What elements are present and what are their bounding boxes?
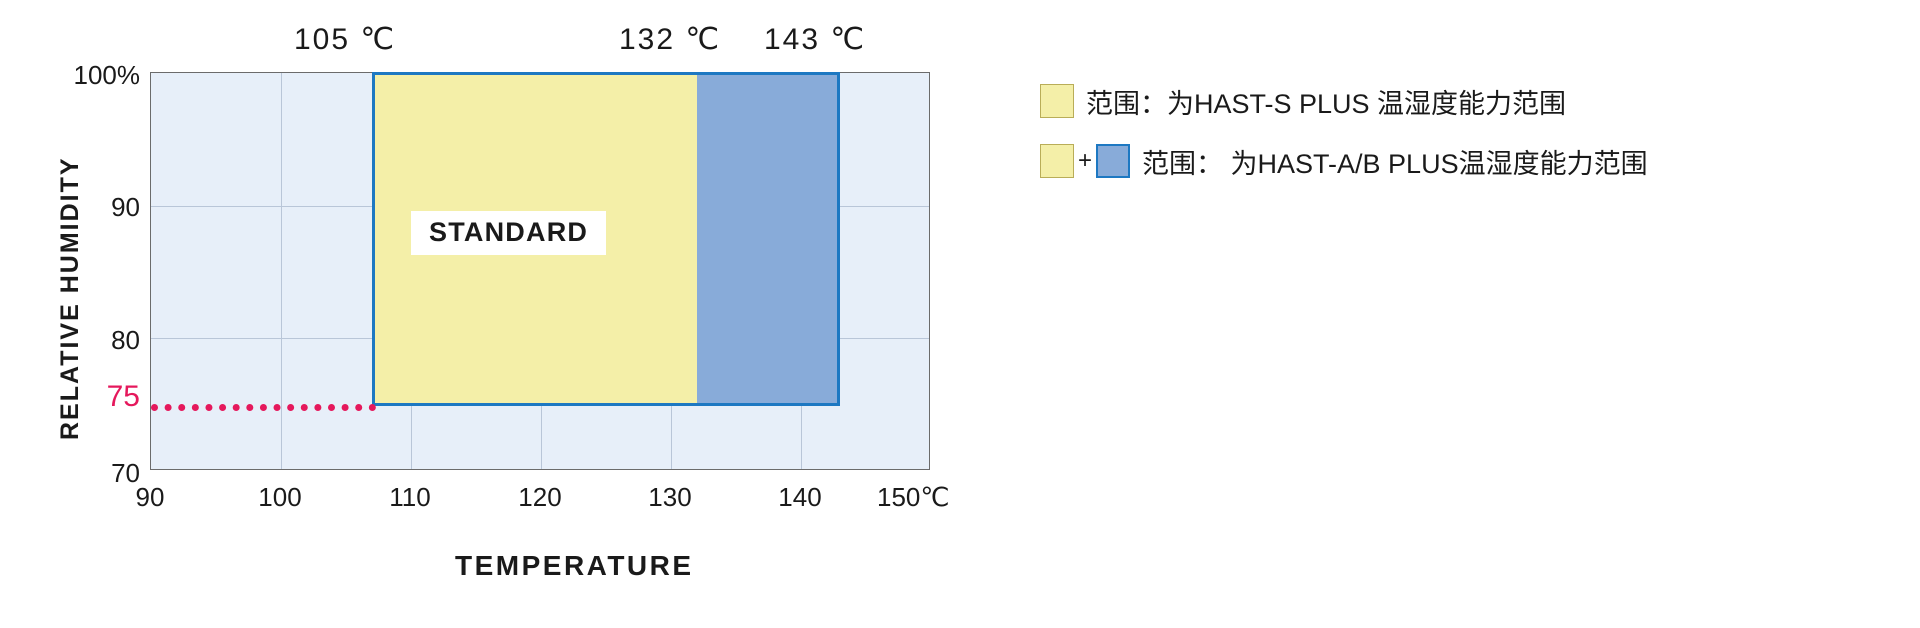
x-axis-title: TEMPERATURE <box>455 550 694 582</box>
x-tick-90: 90 <box>100 482 200 513</box>
y-tick-80: 80 <box>20 325 140 356</box>
legend-swatch-blue <box>1096 144 1130 178</box>
x-tick-110: 110 <box>360 482 460 513</box>
x-tick-150: 150℃ <box>877 482 987 513</box>
y-tick-90: 90 <box>20 192 140 223</box>
legend-plus-sign: + <box>1078 149 1092 173</box>
y-tick-100: 100% <box>20 60 140 91</box>
legend-label-hast-ab-plus: 范围： 为HAST-A/B PLUS温湿度能力范围 <box>1142 142 1648 181</box>
threshold-value-label: 75 <box>20 380 140 414</box>
legend-item-hast-s-plus: 范围：为HAST-S PLUS 温湿度能力范围 <box>1040 78 1880 124</box>
x-tick-120: 120 <box>490 482 590 513</box>
standard-label: STANDARD <box>411 211 606 255</box>
x-tick-130: 130 <box>620 482 720 513</box>
legend-label-hast-s-plus: 范围：为HAST-S PLUS 温湿度能力范围 <box>1086 82 1566 121</box>
top-annotation-105: 105 ℃ <box>255 22 435 57</box>
x-tick-140: 140 <box>750 482 850 513</box>
threshold-dotted-line <box>151 404 376 411</box>
region-hast-ab-plus <box>697 73 840 405</box>
top-annotation-143: 143 ℃ <box>725 22 905 57</box>
legend-item-hast-ab-plus: + 范围： 为HAST-A/B PLUS温湿度能力范围 <box>1040 138 1880 184</box>
chart-page: 105 ℃ 132 ℃ 143 ℃ RELATIVE HUMIDITY 100%… <box>0 0 1920 628</box>
plot-area: STANDARD <box>150 72 930 470</box>
chart-container: 105 ℃ 132 ℃ 143 ℃ RELATIVE HUMIDITY 100%… <box>0 0 1000 628</box>
legend-swatch-yellow <box>1040 84 1074 118</box>
legend: 范围：为HAST-S PLUS 温湿度能力范围 + 范围： 为HAST-A/B … <box>1040 78 1880 198</box>
x-tick-100: 100 <box>230 482 330 513</box>
legend-swatch-yellow-2 <box>1040 144 1074 178</box>
